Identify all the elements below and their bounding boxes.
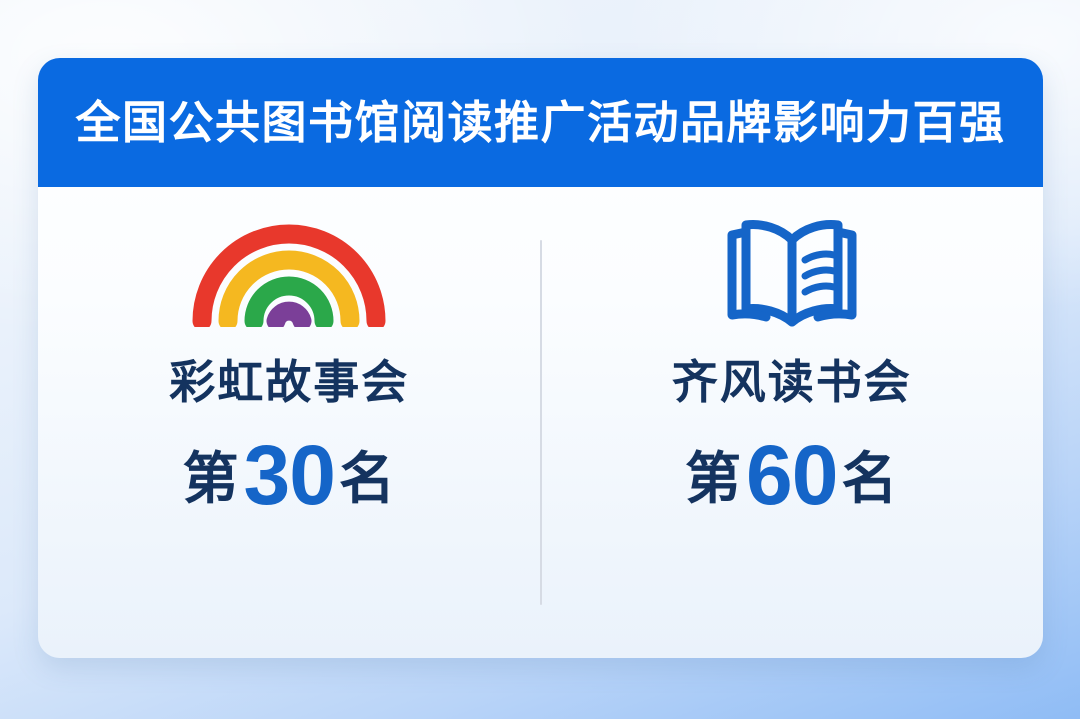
open-book-icon	[722, 209, 862, 335]
panel-qifeng-reading-club: 齐风读书会 第 60 名	[541, 187, 1044, 658]
page-title: 全国公共图书馆阅读推广活动品牌影响力百强	[75, 100, 1005, 145]
rank-prefix: 第	[685, 451, 742, 507]
panel-divider	[540, 240, 542, 605]
ranking-card: 全国公共图书馆阅读推广活动品牌影响力百强 彩虹故事	[38, 58, 1043, 658]
rank-number: 30	[244, 433, 335, 517]
brand-name: 齐风读书会	[672, 359, 912, 405]
card-header: 全国公共图书馆阅读推广活动品牌影响力百强	[38, 58, 1043, 187]
rank-line: 第 30 名	[183, 427, 396, 511]
rainbow-icon	[189, 209, 389, 335]
rank-suffix: 名	[841, 451, 898, 507]
rank-number: 60	[746, 433, 837, 517]
brand-name: 彩虹故事会	[169, 359, 409, 405]
card-body: 彩虹故事会 第 30 名	[38, 187, 1043, 658]
poster-background: 全国公共图书馆阅读推广活动品牌影响力百强 彩虹故事	[0, 0, 1080, 719]
rank-suffix: 名	[339, 451, 396, 507]
rank-line: 第 60 名	[685, 427, 898, 511]
panel-rainbow-story-club: 彩虹故事会 第 30 名	[38, 187, 541, 658]
rank-prefix: 第	[183, 451, 240, 507]
